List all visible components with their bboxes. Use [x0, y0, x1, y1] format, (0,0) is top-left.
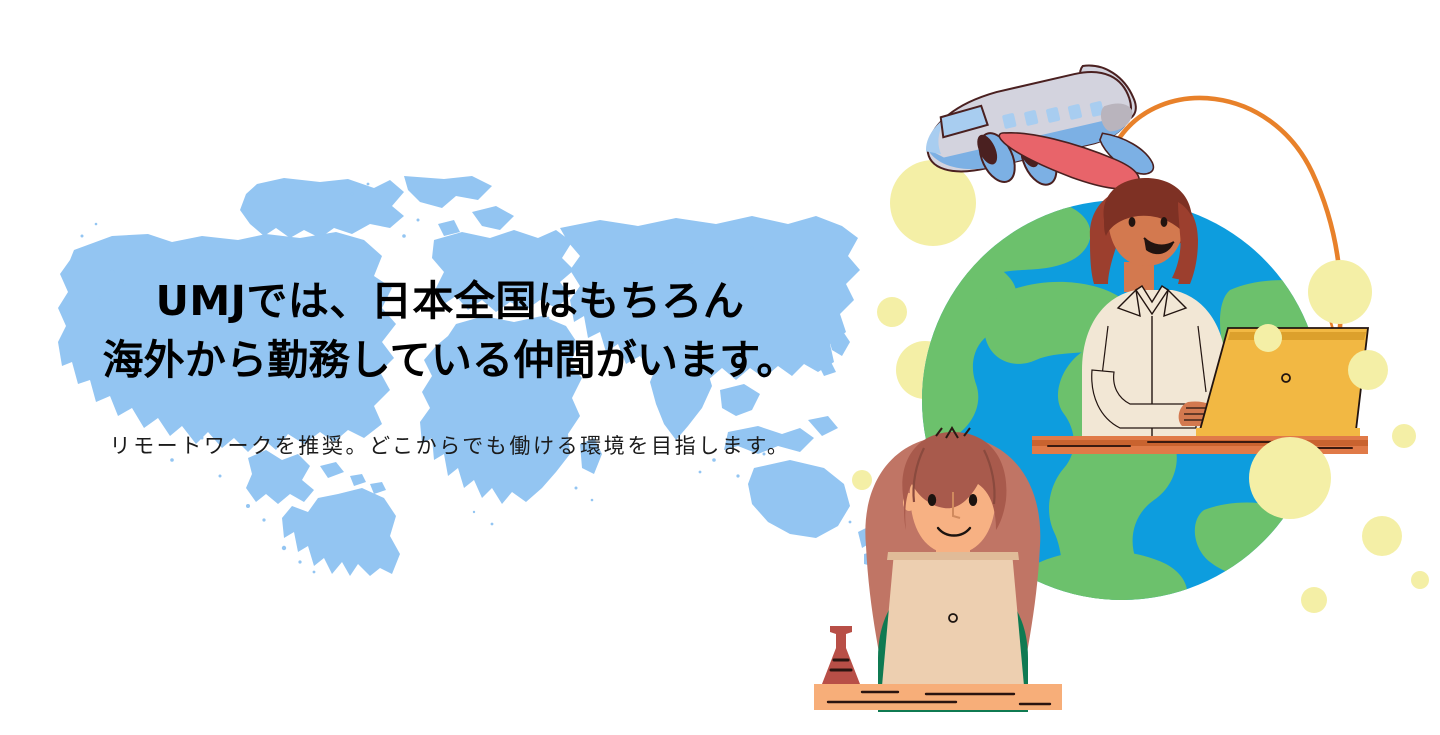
hero-text-block: UMJでは、日本全国はもちろん 海外から勤務している仲間がいます。 リモートワー… — [0, 272, 900, 461]
page-headline-line-1: UMJでは、日本全国はもちろん — [0, 272, 900, 331]
laptop-foreground — [882, 552, 1024, 686]
flask-icon — [822, 626, 860, 684]
desk-foreground — [814, 684, 1062, 710]
page-headline-line-2: 海外から勤務している仲間がいます。 — [0, 331, 900, 390]
hero-banner: UMJでは、日本全国はもちろん 海外から勤務している仲間がいます。 リモートワー… — [0, 0, 1440, 735]
page-subheadline: リモートワークを推奨。どこからでも働ける環境を目指します。 — [0, 431, 900, 461]
